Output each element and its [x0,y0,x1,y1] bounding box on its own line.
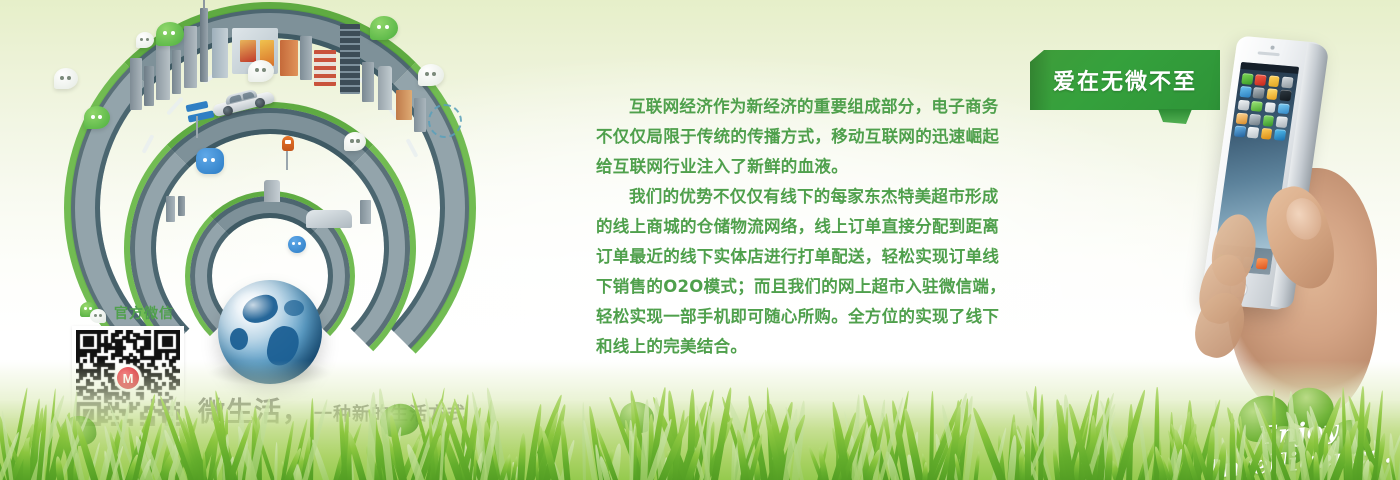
phone-app-grid [1234,73,1295,141]
wechat-qr-label: 官方微信 [114,303,174,323]
wechat-bubble-icon [418,64,444,86]
grass-border [0,350,1400,480]
wechat-signboard-icon [196,148,224,174]
app-icon [1277,103,1289,115]
app-icon [1260,128,1272,140]
building [178,196,185,216]
wechat-signboard-icon [288,236,306,253]
billboard [240,40,256,62]
building [166,196,175,222]
building [156,44,170,100]
building [360,200,371,224]
app-icon [1268,75,1280,87]
app-icon [1249,114,1261,126]
paragraph-2: 我们的优势不仅仅有线下的每家东杰特美超市形成的线上商城的仓储物流网络，线上订单直… [596,182,1014,362]
building [212,28,228,78]
monument [378,66,392,110]
app-icon [1281,77,1293,89]
building [184,26,197,88]
building [172,50,181,94]
globe-landmass [284,300,304,316]
wechat-bubble-icon [54,68,78,89]
road-sign-pole [196,116,198,138]
grass-blade [922,462,928,480]
building [144,66,154,106]
inner-city-cluster [156,178,386,238]
app-icon [1251,101,1263,113]
grass-blade [473,450,477,480]
ribbon-banner: 爱在无微不至 [1030,50,1220,110]
skyscraper [340,24,360,94]
road-sign-icon [188,110,215,122]
wechat-icon [80,302,108,324]
wechat-bubble-icon [84,106,110,129]
app-icon [1247,127,1259,139]
stadium [306,210,352,228]
app-icon [1264,102,1276,114]
grass-blade [23,438,31,480]
tower [200,8,208,82]
road-sign-icon [186,101,209,112]
wechat-bubble-icon [344,132,366,151]
body-copy: 互联网经济作为新经济的重要组成部分，电子商务不仅仅局限于传统的传播方式，移动互联… [596,92,1014,362]
promo-banner: 爱在无微不至 互联网经济作为新经济的重要组成部分，电子商务不仅仅局限于传统的传播… [0,0,1400,480]
wechat-bubble-icon [136,32,154,48]
app-icon [1279,90,1291,102]
app-icon [1274,129,1286,141]
app-icon [1254,74,1266,86]
app-icon [1238,99,1250,111]
tower-spire [203,0,205,10]
app-icon [1236,113,1248,125]
parking-building [314,50,336,86]
app-icon [1275,116,1287,128]
app-icon [1262,115,1274,127]
app-icon [1234,126,1246,138]
wechat-bubble-icon [248,60,274,82]
paragraph-1: 互联网经济作为新经济的重要组成部分，电子商务不仅仅局限于传统的传播方式，移动互联… [596,92,1014,182]
building [414,98,426,132]
grass-blade [1229,413,1236,480]
wechat-bubble-icon [156,22,184,46]
ribbon-label: 爱在无微不至 [1030,50,1220,110]
building [130,58,142,110]
wechat-bubble-icon [370,16,398,40]
grass-blade [1025,425,1031,480]
building [280,40,298,76]
grass-blade [1272,389,1277,480]
statue [264,180,280,202]
parking-meter-icon [282,136,294,170]
ribbon-tail-fold [1158,109,1192,124]
ferris-wheel-icon [428,104,462,138]
app-icon [1266,89,1278,101]
app-icon [1241,73,1253,85]
building [362,62,374,102]
building [396,90,412,120]
dock-icon-music [1256,258,1268,270]
building [300,36,312,80]
wechat-qr-heading: 官方微信 [80,300,242,326]
app-icon [1253,87,1265,99]
app-icon [1239,86,1251,98]
